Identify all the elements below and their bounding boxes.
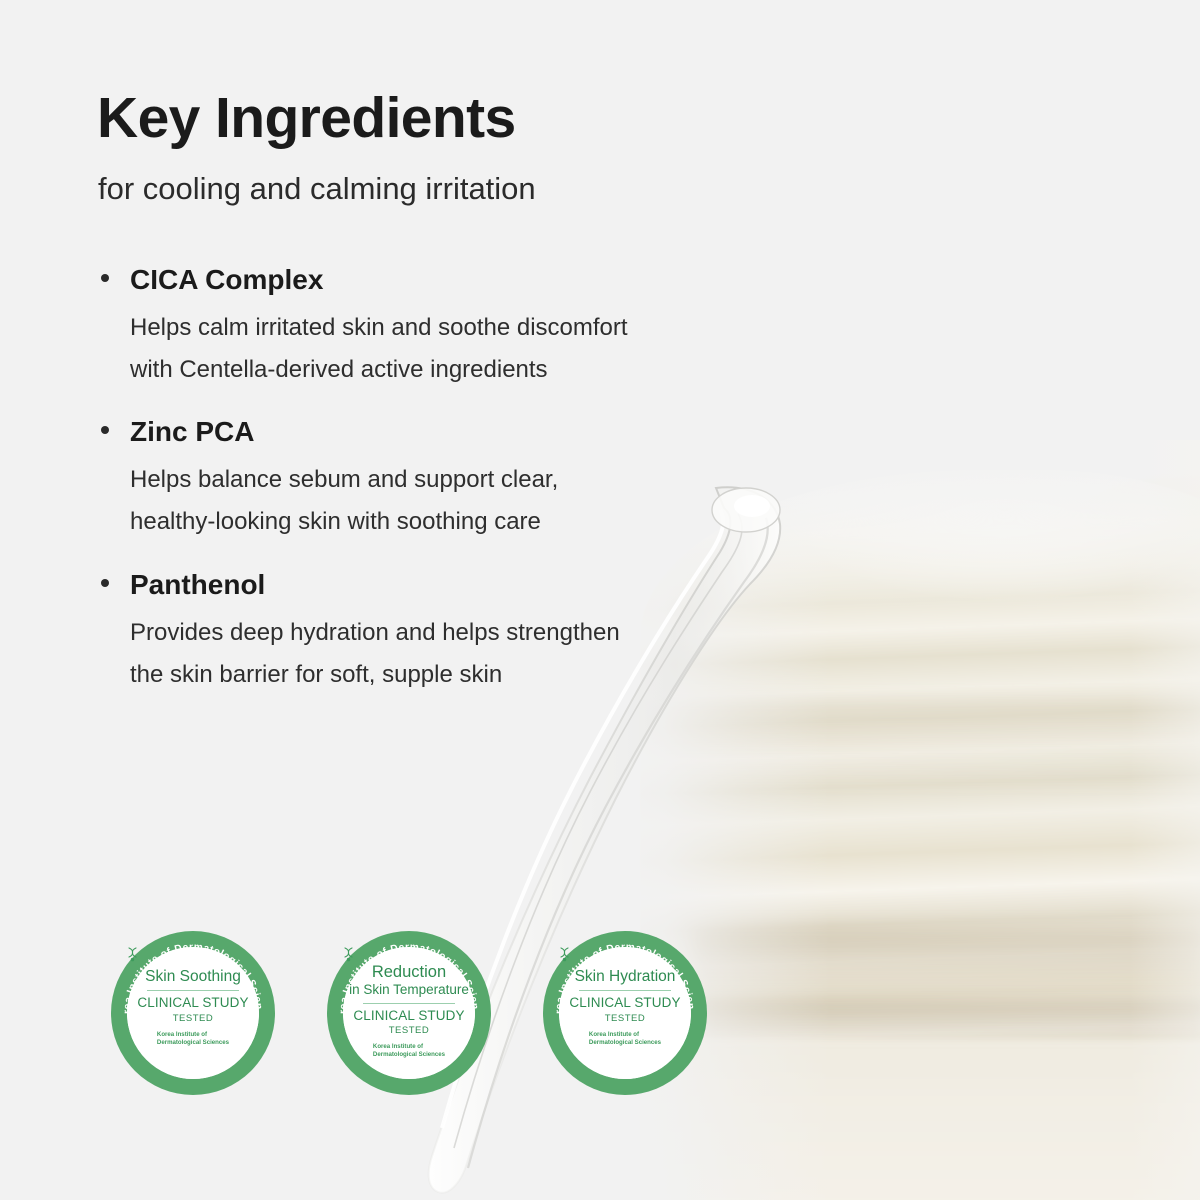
badge-logo-text: Korea Institute of Dermatological Scienc… bbox=[157, 1031, 229, 1046]
badge-inner-1: Skin Soothing CLINICAL STUDY TESTED Kore… bbox=[127, 947, 259, 1079]
ingredient-label: Zinc PCA bbox=[130, 416, 254, 447]
badge-divider bbox=[363, 1003, 455, 1004]
badge-divider bbox=[579, 990, 671, 991]
badge-clinical-label: CLINICAL STUDY bbox=[569, 996, 680, 1011]
list-item: Zinc PCA Helps balance sebum and support… bbox=[96, 414, 736, 542]
ingredient-description: Provides deep hydration and helps streng… bbox=[96, 612, 736, 696]
badge-logo: Korea Institute of Dermatological Scienc… bbox=[373, 1043, 445, 1058]
page-title: Key Ingredients bbox=[97, 90, 516, 147]
dna-helix-icon bbox=[343, 947, 354, 962]
badge-tested-label: TESTED bbox=[389, 1025, 429, 1036]
badge-reduction-in-skin-temperature: Korea Institute of Dermatological Scienc… bbox=[326, 930, 492, 1096]
badge-inner-2: Reduction in Skin Temperature CLINICAL S… bbox=[343, 947, 475, 1079]
ingredient-name-cica-complex: CICA Complex bbox=[96, 262, 736, 299]
badge-title-line1: Reduction bbox=[349, 963, 469, 981]
list-item: Panthenol Provides deep hydration and he… bbox=[96, 567, 736, 695]
bullet-dot-icon bbox=[101, 579, 109, 587]
badge-clinical-label: CLINICAL STUDY bbox=[137, 996, 248, 1011]
badge-title-line2: in Skin Temperature bbox=[349, 982, 469, 997]
badge-title: Skin Hydration bbox=[575, 968, 676, 985]
badge-logo: Korea Institute of Dermatological Scienc… bbox=[157, 1031, 229, 1046]
badge-title: Skin Soothing bbox=[145, 968, 241, 985]
badge-skin-soothing: Korea Institute of Dermatological Scienc… bbox=[110, 930, 276, 1096]
ingredient-description: Helps balance sebum and support clear, h… bbox=[96, 459, 736, 543]
badge-divider bbox=[147, 990, 239, 991]
ingredient-label: Panthenol bbox=[130, 569, 265, 600]
badge-logo: Korea Institute of Dermatological Scienc… bbox=[589, 1031, 661, 1046]
ingredient-label: CICA Complex bbox=[130, 264, 323, 295]
list-item: CICA Complex Helps calm irritated skin a… bbox=[96, 262, 736, 390]
badge-clinical-label: CLINICAL STUDY bbox=[353, 1009, 464, 1024]
ingredient-name-panthenol: Panthenol bbox=[96, 567, 736, 604]
dna-helix-icon bbox=[127, 947, 138, 962]
ingredient-name-zinc-pca: Zinc PCA bbox=[96, 414, 736, 451]
dna-helix-icon bbox=[559, 947, 570, 962]
ingredient-description: Helps calm irritated skin and soothe dis… bbox=[96, 307, 736, 391]
badge-inner-3: Skin Hydration CLINICAL STUDY TESTED Kor… bbox=[559, 947, 691, 1079]
ingredient-list: CICA Complex Helps calm irritated skin a… bbox=[96, 262, 736, 695]
page-subtitle: for cooling and calming irritation bbox=[98, 173, 536, 204]
product-feature-card: Key Ingredients for cooling and calming … bbox=[0, 0, 1200, 1200]
badge-tested-label: TESTED bbox=[605, 1013, 645, 1024]
bullet-dot-icon bbox=[101, 426, 109, 434]
badge-tested-label: TESTED bbox=[173, 1013, 213, 1024]
bullet-dot-icon bbox=[101, 274, 109, 282]
badge-skin-hydration: Korea Institute of Dermatological Scienc… bbox=[542, 930, 708, 1096]
badge-logo-text: Korea Institute of Dermatological Scienc… bbox=[589, 1031, 661, 1046]
badge-logo-text: Korea Institute of Dermatological Scienc… bbox=[373, 1043, 445, 1058]
badge-title: Reduction in Skin Temperature bbox=[349, 963, 469, 998]
